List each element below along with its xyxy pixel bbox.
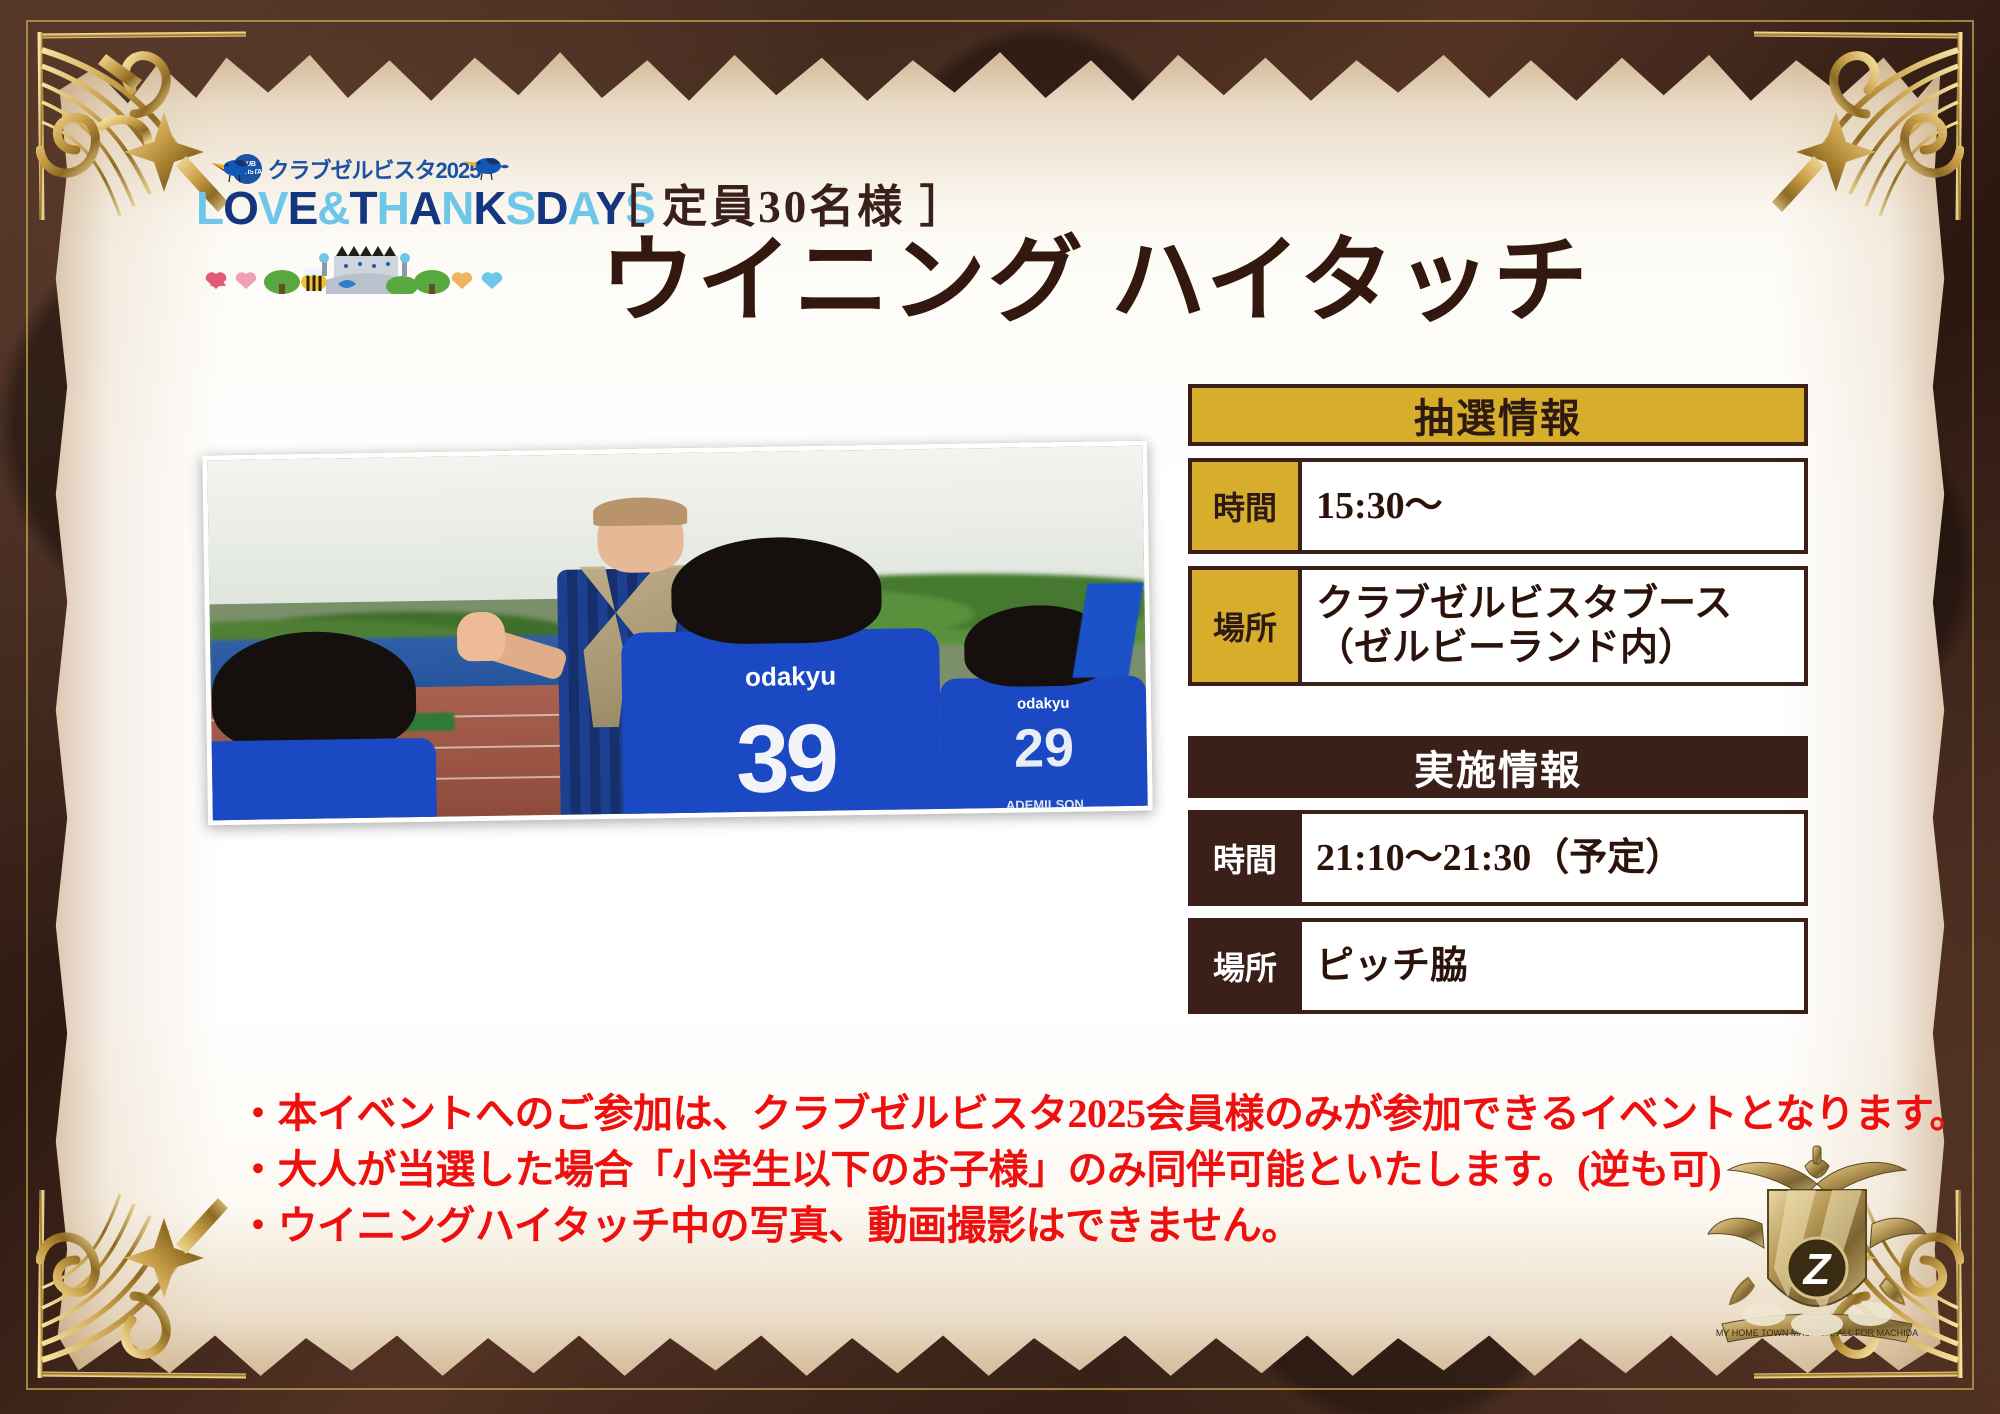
table-row: 時間 15:30〜: [1188, 458, 1808, 554]
event-table-heading: 実施情報: [1188, 736, 1808, 798]
note-item: ・本イベントへのご参加は、クラブゼルビスタ2025会員様のみが参加できるイベント…: [238, 1086, 1838, 1142]
crest-monogram: Z: [1802, 1245, 1833, 1294]
photo-child-left: [202, 630, 438, 826]
club-crest-icon: Z MY HOME TOWN MACHIDA, ALL FOR MACHIDA: [1692, 1128, 1942, 1378]
lottery-time-label: 時間: [1192, 462, 1302, 550]
photo-child-center: odakyu 39: [620, 535, 943, 825]
wordmark-letter: L: [196, 182, 223, 234]
wordmark-letter: E: [288, 182, 318, 234]
wordmark-letter: A: [567, 182, 595, 234]
logo-wordmark: LOVE&THANKSDAYS: [196, 184, 516, 232]
capacity-label: ［ 定員30名様 ］: [600, 170, 968, 235]
photo-jersey-number-side: 29: [961, 720, 1126, 777]
photo-jersey-number-front: 39: [667, 709, 904, 809]
note-item: ・大人が当選した場合「小学生以下のお子様」のみ同伴可能といたします。(逆も可): [238, 1142, 1838, 1198]
photo-sponsor-text-right: odakyu: [969, 694, 1117, 713]
photo-jersey-name-side: ADEMILSON: [958, 796, 1131, 814]
event-photo: sion odakyu 39: [202, 441, 1153, 826]
wordmark-letter: H: [377, 182, 409, 234]
logo-kana-text: クラブゼルビスタ2025: [268, 153, 481, 185]
poster-root: CLUB ZELVISTA クラブゼルビスタ2025 LOVE&THANKSDA…: [0, 0, 2000, 1414]
lottery-place-line1: クラブゼルビスタブース: [1316, 582, 1790, 626]
lottery-info-table: 抽選情報 時間 15:30〜 場所 クラブゼルビスタブース （ゼルビーランド内）: [1188, 384, 1808, 686]
wordmark-letter: A: [409, 182, 441, 234]
event-info-table: 実施情報 時間 21:10〜21:30（予定） 場所 ピッチ脇: [1188, 736, 1808, 1014]
event-logo-badge: CLUB ZELVISTA クラブゼルビスタ2025 LOVE&THANKSDA…: [196, 152, 516, 302]
page-title: ウイニング ハイタッチ: [600, 232, 1590, 330]
event-place-label: 場所: [1192, 922, 1302, 1010]
table-row: 場所 クラブゼルビスタブース （ゼルビーランド内）: [1188, 566, 1808, 686]
event-time-label: 時間: [1192, 814, 1302, 902]
wordmark-letter: V: [258, 182, 288, 234]
photo-content: sion odakyu 39: [207, 446, 1148, 821]
photo-sponsor-text: odakyu: [685, 660, 895, 694]
lottery-table-heading: 抽選情報: [1188, 384, 1808, 446]
table-row: 時間 21:10〜21:30（予定）: [1188, 810, 1808, 906]
wordmark-letter: S: [506, 182, 536, 234]
event-place-value: ピッチ脇: [1302, 922, 1804, 1010]
wordmark-letter: K: [473, 182, 505, 234]
wordmark-letter: O: [223, 182, 258, 234]
lottery-place-value: クラブゼルビスタブース （ゼルビーランド内）: [1302, 570, 1804, 682]
notes-list: ・本イベントへのご参加は、クラブゼルビスタ2025会員様のみが参加できるイベント…: [238, 1086, 1838, 1254]
lottery-place-line2: （ゼルビーランド内）: [1316, 626, 1790, 670]
lottery-time-value: 15:30〜: [1302, 462, 1804, 550]
kingfisher-bird-icon-right: [464, 152, 510, 182]
note-item: ・ウイニングハイタッチ中の写真、動画撮影はできません。: [238, 1198, 1838, 1254]
wordmark-letter: &: [317, 182, 349, 234]
wordmark-letter: D: [535, 182, 567, 234]
wordmark-letter: T: [350, 182, 377, 234]
lottery-place-label: 場所: [1192, 570, 1302, 682]
table-row: 場所 ピッチ脇: [1188, 918, 1808, 1014]
kingfisher-bird-icon: [212, 154, 258, 184]
event-time-value: 21:10〜21:30（予定）: [1302, 814, 1804, 902]
event-place-line1: ピッチ脇: [1316, 944, 1790, 988]
logo-scene-illustration: [196, 234, 516, 294]
lottery-time-line1: 15:30〜: [1316, 484, 1790, 528]
event-time-line1: 21:10〜21:30（予定）: [1316, 836, 1790, 880]
logo-top-row: CLUB ZELVISTA クラブゼルビスタ2025: [196, 152, 516, 186]
wordmark-letter: N: [441, 182, 473, 234]
